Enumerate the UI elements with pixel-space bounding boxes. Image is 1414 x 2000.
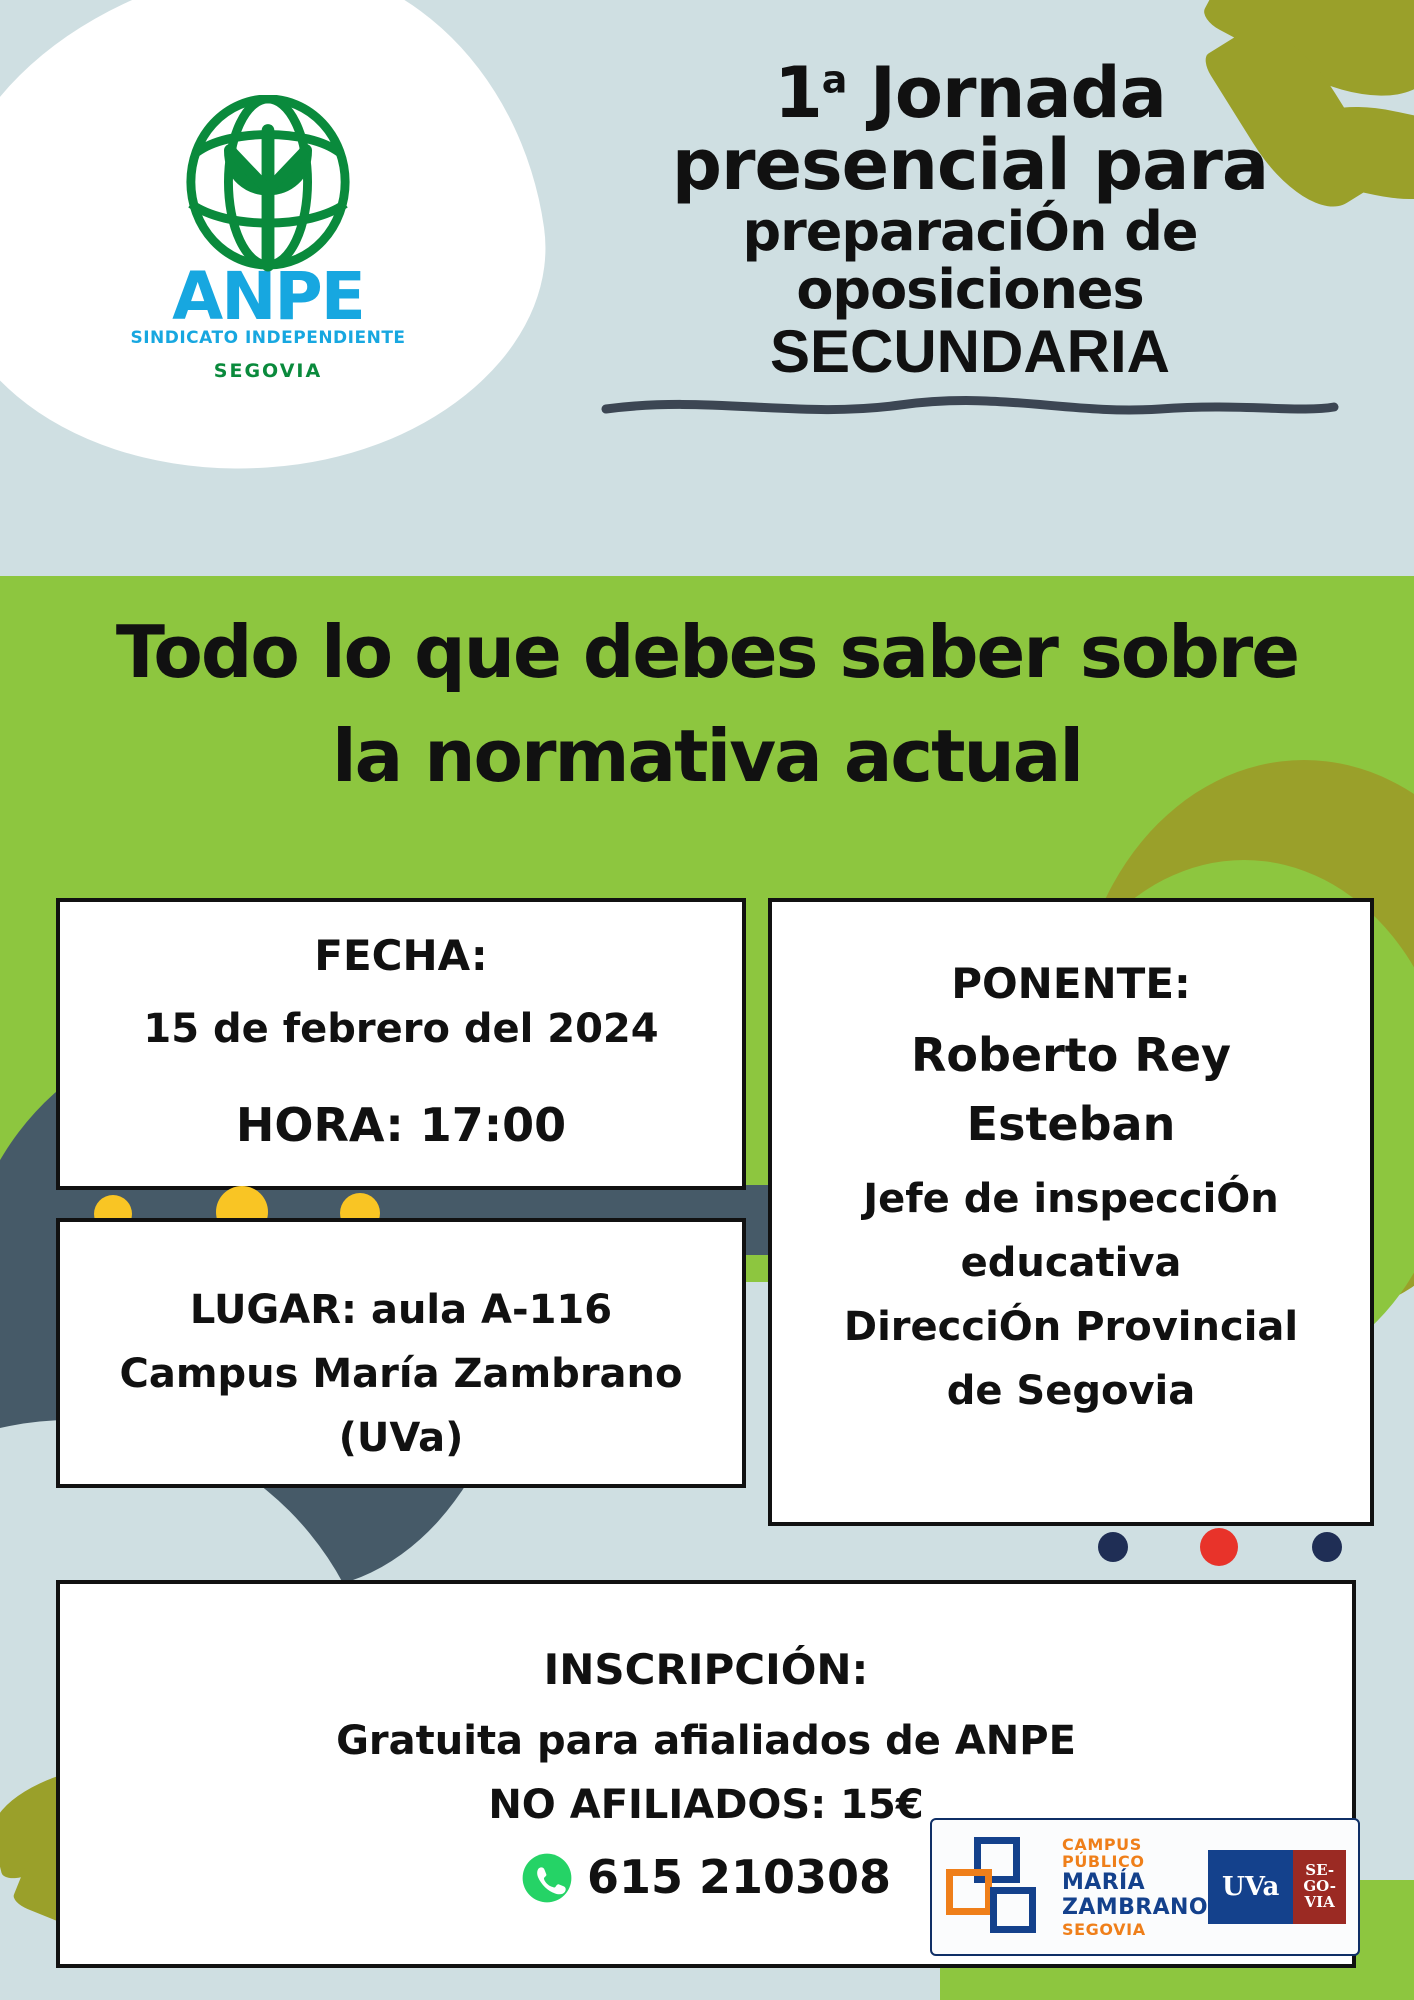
lugar-line-2: Campus María Zambrano: [60, 1342, 742, 1406]
uva-line-3: SEGOVIA: [1062, 1921, 1208, 1939]
ponente-label: PONENTE:: [772, 952, 1370, 1015]
inscripcion-line-1: Gratuita para afialiados de ANPE: [60, 1709, 1352, 1773]
title-line-4: oposiciones: [560, 261, 1380, 319]
uva-badges: UVa SE- GO- VIA: [1208, 1850, 1346, 1924]
ponente-name-line-1: Roberto Rey: [772, 1021, 1370, 1090]
anpe-wordmark: ANPE: [172, 267, 364, 326]
lugar-line-3: (UVa): [60, 1406, 742, 1470]
anpe-logo: ANPE SINDICATO INDEPENDIENTE SEGOVIA: [118, 95, 418, 355]
uva-line-1: CAMPUS PÚBLICO: [1062, 1836, 1208, 1872]
fecha-label: FECHA:: [60, 924, 742, 987]
navy-dot-decoration: [1098, 1532, 1128, 1562]
navy-dot-decoration: [1312, 1532, 1342, 1562]
banner-heading: Todo lo que debes saber sobre la normati…: [0, 600, 1414, 809]
title-line-5: SECUNDARIA: [560, 320, 1380, 383]
poster-root: ANPE SINDICATO INDEPENDIENTE SEGOVIA 1a …: [0, 0, 1414, 2000]
uva-badge: UVa: [1208, 1850, 1293, 1924]
ponente-box: PONENTE: Roberto Rey Esteban Jefe de ins…: [768, 898, 1374, 1526]
inscripcion-label: INSCRIPCIÓN:: [60, 1638, 1352, 1701]
fecha-box: FECHA: 15 de febrero del 2024 HORA: 17:0…: [56, 898, 746, 1190]
banner-line-2: la normativa actual: [0, 704, 1414, 808]
anpe-city: SEGOVIA: [214, 360, 322, 382]
title-line-1-rest: Jornada: [846, 52, 1165, 134]
ponente-role-line-4: de Segovia: [772, 1359, 1370, 1423]
wavy-divider-icon: [560, 389, 1380, 428]
fecha-value: 15 de febrero del 2024: [60, 997, 742, 1061]
uva-line-2: MARÍA ZAMBRANO: [1062, 1871, 1208, 1920]
ponente-name-line-2: Esteban: [772, 1090, 1370, 1159]
ponente-role-line-1: Jefe de inspecciÓn: [772, 1167, 1370, 1231]
title-line-1: 1a Jornada: [560, 58, 1380, 129]
campus-marks-icon: [944, 1835, 1052, 1939]
segovia-badge-line-3: VIA: [1305, 1895, 1335, 1911]
phone-number[interactable]: 615 210308: [587, 1843, 891, 1912]
lugar-line-1: LUGAR: aula A-116: [60, 1278, 742, 1342]
title-ordinal: a: [822, 58, 847, 102]
uva-logo-text: CAMPUS PÚBLICO MARÍA ZAMBRANO SEGOVIA: [1062, 1836, 1208, 1939]
ponente-role-line-3: DirecciÓn Provincial: [772, 1295, 1370, 1359]
red-dot-decoration: [1200, 1528, 1238, 1566]
ponente-role-line-2: educativa: [772, 1231, 1370, 1295]
lugar-box: LUGAR: aula A-116 Campus María Zambrano …: [56, 1218, 746, 1488]
hora-value: HORA: 17:00: [60, 1091, 742, 1160]
title-line-3: preparaciÓn de: [560, 203, 1380, 261]
banner-line-1: Todo lo que debes saber sobre: [0, 600, 1414, 704]
title-line-2: presencial para: [560, 129, 1380, 203]
whatsapp-icon: [521, 1852, 573, 1904]
uva-logo-card: CAMPUS PÚBLICO MARÍA ZAMBRANO SEGOVIA UV…: [930, 1818, 1360, 1956]
window-mark-blue-icon: [990, 1887, 1036, 1933]
window-mark-orange-icon: [946, 1869, 992, 1915]
segovia-badge: SE- GO- VIA: [1293, 1850, 1346, 1924]
title-number: 1: [774, 52, 822, 134]
anpe-subtitle: SINDICATO INDEPENDIENTE: [130, 328, 405, 348]
poster-title: 1a Jornada presencial para preparaciÓn d…: [560, 58, 1380, 428]
globe-icon: [179, 95, 357, 273]
